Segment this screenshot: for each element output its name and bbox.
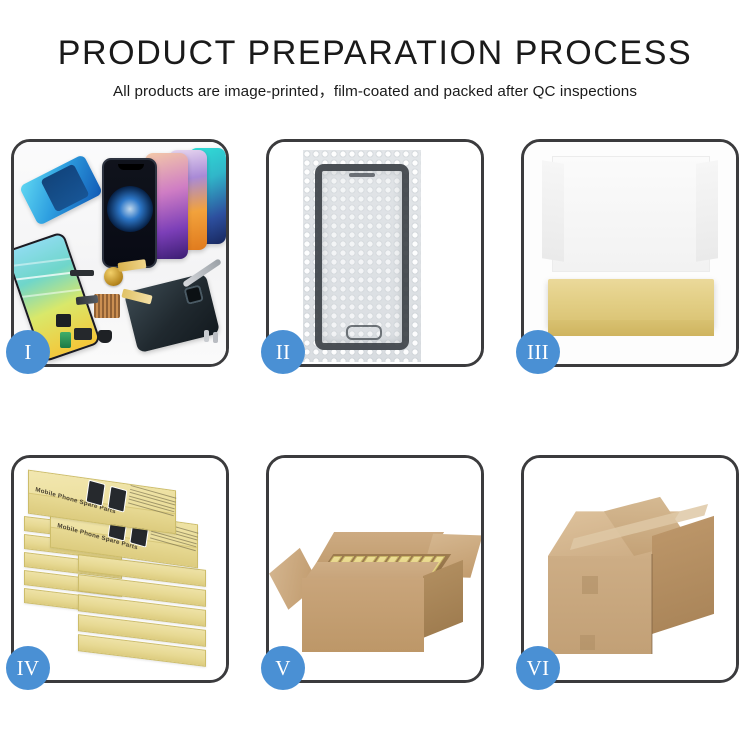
page-header: PRODUCT PREPARATION PROCESS All products…: [0, 0, 750, 102]
box-lid-back-icon: [552, 156, 710, 272]
charging-port-icon: [60, 332, 71, 348]
carton-front-face-icon: [302, 578, 424, 652]
bubble-wrapped-screen-illustration: [269, 142, 481, 364]
step-badge-6: VI: [516, 646, 560, 690]
step-badge-2: II: [261, 330, 305, 374]
sealed-carton-front-face-icon: [548, 556, 652, 654]
page-subtitle: All products are image-printed，film-coat…: [0, 82, 750, 102]
camera-module-icon: [56, 314, 71, 327]
buzzer-icon: [98, 330, 112, 343]
product-preparation-process-page: PRODUCT PREPARATION PROCESS All products…: [0, 0, 750, 750]
step-panel-4: Mobile Phone Spare Parts Mobile Phone Sp…: [11, 455, 229, 683]
phone-glass-lens-icon: [315, 164, 409, 350]
screw-icon-1: [204, 330, 209, 342]
earpiece-speaker-icon: [70, 270, 94, 276]
carton-seam-icon-2: [580, 635, 595, 650]
step-panel-2: II: [266, 139, 484, 367]
box-thumb-icon: [107, 486, 127, 513]
step-panel-1: I: [11, 139, 229, 367]
open-inner-box-illustration: [524, 142, 736, 364]
step-image-2: [269, 142, 481, 364]
process-steps-grid: I II: [11, 139, 739, 695]
step-panel-3: III: [521, 139, 739, 367]
step-panel-6: VI: [521, 455, 739, 683]
dark-phone-icon: [102, 158, 157, 268]
carton-corner-edge-icon: [651, 554, 653, 654]
stacked-retail-boxes-illustration: Mobile Phone Spare Parts Mobile Phone Sp…: [14, 458, 226, 680]
box-lid-left-icon: [542, 160, 564, 261]
box-lid-right-icon: [696, 160, 718, 261]
step-image-6: [524, 458, 736, 680]
screw-icon-2: [213, 332, 218, 343]
box-thumb-icon: [86, 480, 106, 507]
step-image-1: [14, 142, 226, 364]
step-panel-5: V: [266, 455, 484, 683]
kraft-tray-front-icon: [548, 320, 714, 336]
step-badge-4: IV: [6, 646, 50, 690]
phones-and-parts-illustration: [14, 142, 226, 364]
earpiece-slot-icon: [349, 173, 375, 177]
sealed-carton-right-face-icon: [652, 516, 714, 634]
step-image-3: [524, 142, 736, 364]
carton-seam-icon-1: [582, 576, 598, 594]
loudspeaker-icon: [74, 328, 92, 340]
page-title: PRODUCT PREPARATION PROCESS: [0, 33, 750, 73]
sealed-carton-illustration: [524, 458, 736, 680]
bubble-wrap-icon: [303, 150, 421, 362]
open-carton-illustration: [269, 458, 481, 680]
step-badge-3: III: [516, 330, 560, 374]
step-image-4: Mobile Phone Spare Parts Mobile Phone Sp…: [14, 458, 226, 680]
step-badge-5: V: [261, 646, 305, 690]
step-badge-1: I: [6, 330, 50, 374]
step-image-5: [269, 458, 481, 680]
